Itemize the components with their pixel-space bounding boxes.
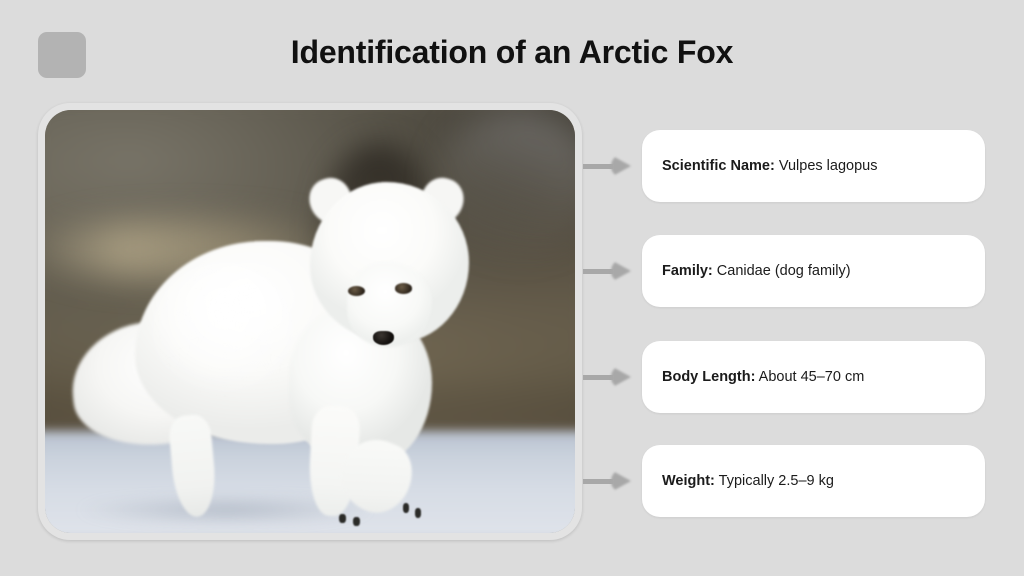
arrow-shaft (583, 375, 613, 380)
fox-figure (45, 110, 575, 533)
fact-value: Typically 2.5–9 kg (719, 473, 834, 489)
arctic-fox-photo (45, 110, 575, 533)
fox-left-eye (348, 286, 365, 296)
fact-card-weight[interactable]: Weight: Typically 2.5–9 kg (642, 445, 985, 517)
fact-card-family[interactable]: Family: Canidae (dog family) (642, 235, 985, 307)
fact-card-body-length[interactable]: Body Length: About 45–70 cm (642, 341, 985, 413)
fact-value: Vulpes lagopus (779, 158, 878, 174)
slide-canvas: Identification of an Arctic Fox (0, 0, 1024, 576)
arrow-right-icon (583, 366, 631, 388)
arrow-right-icon (583, 470, 631, 492)
fact-card-scientific-name[interactable]: Scientific Name: Vulpes lagopus (642, 130, 985, 202)
fact-label: Body Length: (662, 369, 755, 385)
arrow-right-icon (583, 260, 631, 282)
arrow-shaft (583, 479, 613, 484)
arrow-head (611, 470, 631, 492)
fact-label: Scientific Name: (662, 158, 775, 174)
fact-label: Family: (662, 263, 713, 279)
fox-claw (415, 508, 421, 517)
fox-claw (403, 503, 409, 512)
arrow-right-icon (583, 155, 631, 177)
fact-card-text: Weight: Typically 2.5–9 kg (642, 472, 848, 491)
arrow-head (611, 155, 631, 177)
fact-value: Canidae (dog family) (717, 263, 851, 279)
page-title: Identification of an Arctic Fox (0, 34, 1024, 71)
fact-label: Weight: (662, 473, 715, 489)
fact-card-text: Body Length: About 45–70 cm (642, 368, 878, 387)
fox-right-eye (395, 283, 412, 293)
arrow-shaft (583, 164, 613, 169)
fact-value: About 45–70 cm (759, 369, 865, 385)
fox-haunch (151, 262, 299, 406)
arrow-shaft (583, 269, 613, 274)
fact-card-text: Scientific Name: Vulpes lagopus (642, 157, 891, 176)
photo-frame (38, 103, 582, 540)
arrow-head (611, 260, 631, 282)
fox-claw (353, 517, 359, 526)
fox-nose (373, 331, 394, 345)
arrow-head (611, 366, 631, 388)
fact-card-text: Family: Canidae (dog family) (642, 262, 865, 281)
fox-claw (339, 514, 345, 523)
